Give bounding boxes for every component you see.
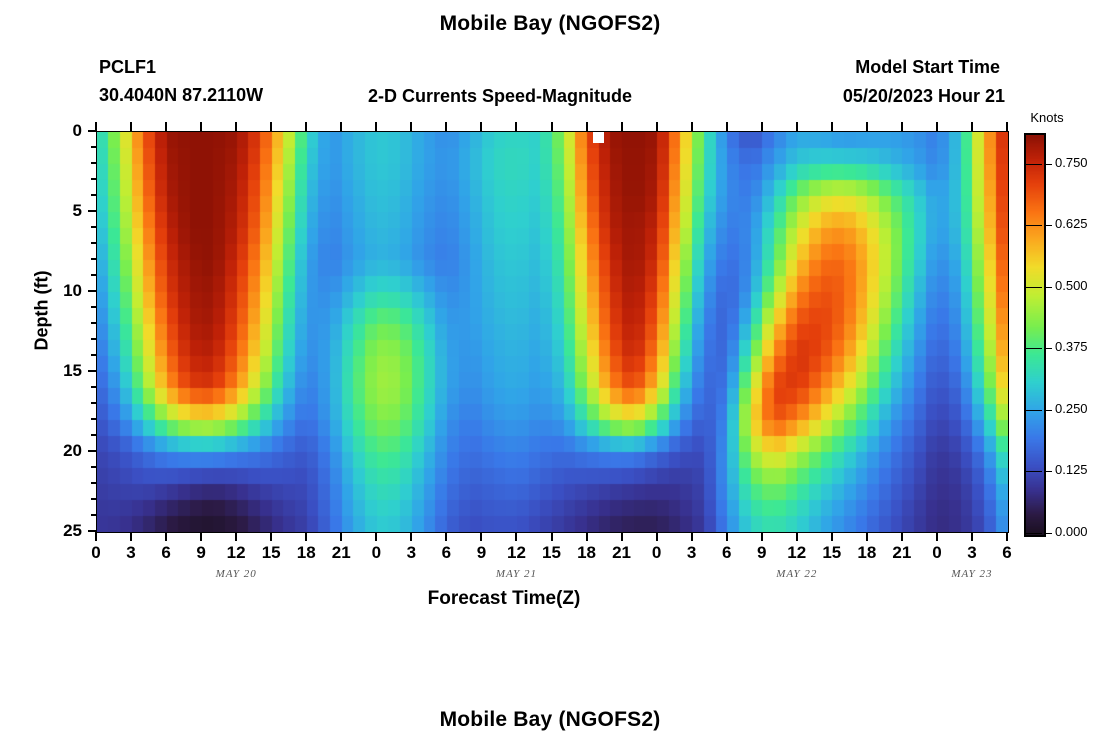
colorbar-tick-label: 0.250 bbox=[1055, 401, 1100, 416]
heatmap-canvas bbox=[97, 132, 1008, 532]
x-axis-top-tick bbox=[340, 122, 342, 131]
x-axis-tick-label: 9 bbox=[742, 543, 782, 563]
x-axis-top-tick bbox=[656, 122, 658, 131]
y-axis-tick-label: 20 bbox=[40, 441, 82, 461]
colorbar-tick bbox=[1044, 225, 1052, 226]
y-axis-minor-tick bbox=[91, 242, 97, 244]
y-axis-minor-tick bbox=[91, 258, 97, 260]
x-axis-top-tick bbox=[515, 122, 517, 131]
x-axis-tick-label: 9 bbox=[181, 543, 221, 563]
x-axis-tick-label: 18 bbox=[567, 543, 607, 563]
y-axis-minor-tick bbox=[91, 498, 97, 500]
colorbar-tick bbox=[1044, 410, 1052, 411]
x-axis-top-tick bbox=[130, 122, 132, 131]
x-axis-top-tick bbox=[971, 122, 973, 131]
x-axis-tick-label: 6 bbox=[987, 543, 1027, 563]
model-start-time-marker bbox=[593, 132, 604, 143]
y-axis-tick-label: 0 bbox=[40, 121, 82, 141]
x-axis-top-tick bbox=[375, 122, 377, 131]
x-axis-tick bbox=[305, 532, 307, 541]
x-axis-date-label: MAY 23 bbox=[912, 568, 1032, 580]
colorbar-tick-label: 0.000 bbox=[1055, 524, 1100, 539]
x-axis-tick-label: 6 bbox=[707, 543, 747, 563]
x-axis-tick bbox=[270, 532, 272, 541]
y-axis-minor-tick bbox=[91, 178, 97, 180]
colorbar-tick bbox=[1044, 164, 1052, 165]
x-axis-tick-label: 21 bbox=[882, 543, 922, 563]
colorbar-tick bbox=[1044, 287, 1052, 288]
x-axis-tick-label: 12 bbox=[216, 543, 256, 563]
y-axis-minor-tick bbox=[91, 466, 97, 468]
x-axis-top-tick bbox=[726, 122, 728, 131]
colorbar-tick-label: 0.125 bbox=[1055, 462, 1100, 477]
colorbar-title: Knots bbox=[1012, 110, 1082, 125]
x-axis-top-tick bbox=[445, 122, 447, 131]
x-axis-top-tick bbox=[480, 122, 482, 131]
x-axis-top-tick bbox=[305, 122, 307, 131]
y-axis-minor-tick bbox=[91, 514, 97, 516]
y-axis-minor-tick bbox=[91, 386, 97, 388]
colorbar-separator bbox=[1024, 348, 1042, 349]
x-axis-top-tick bbox=[621, 122, 623, 131]
y-axis-minor-tick bbox=[91, 274, 97, 276]
x-axis-tick bbox=[515, 532, 517, 541]
x-axis-top-tick bbox=[551, 122, 553, 131]
x-axis-top-tick bbox=[410, 122, 412, 131]
colorbar-tick bbox=[1044, 533, 1052, 534]
colorbar-tick bbox=[1044, 471, 1052, 472]
colorbar-separator bbox=[1024, 164, 1042, 165]
colorbar-separator bbox=[1024, 471, 1042, 472]
colorbar-tick bbox=[1044, 348, 1052, 349]
model-start-time-label: Model Start Time bbox=[0, 57, 1000, 78]
x-axis-tick-label: 15 bbox=[251, 543, 291, 563]
y-axis-minor-tick bbox=[91, 354, 97, 356]
x-axis-tick-label: 15 bbox=[812, 543, 852, 563]
x-axis-tick bbox=[375, 532, 377, 541]
y-axis-major-tick bbox=[88, 210, 97, 212]
x-axis-top-tick bbox=[270, 122, 272, 131]
colorbar-separator bbox=[1024, 225, 1042, 226]
x-axis-tick-label: 18 bbox=[286, 543, 326, 563]
x-axis-tick bbox=[551, 532, 553, 541]
x-axis-tick-label: 9 bbox=[461, 543, 501, 563]
x-axis-tick bbox=[445, 532, 447, 541]
x-axis-top-tick bbox=[796, 122, 798, 131]
y-axis-title: Depth (ft) bbox=[32, 251, 53, 371]
x-axis-tick-label: 3 bbox=[672, 543, 712, 563]
x-axis-tick-label: 3 bbox=[391, 543, 431, 563]
x-axis-top-tick bbox=[586, 122, 588, 131]
colorbar bbox=[1024, 133, 1046, 537]
x-axis-tick bbox=[410, 532, 412, 541]
y-axis-major-tick bbox=[88, 370, 97, 372]
x-axis-tick-label: 3 bbox=[111, 543, 151, 563]
x-axis-tick-label: 12 bbox=[496, 543, 536, 563]
x-axis-tick-label: 18 bbox=[847, 543, 887, 563]
x-axis-tick bbox=[200, 532, 202, 541]
x-axis-tick bbox=[130, 532, 132, 541]
x-axis-top-tick bbox=[691, 122, 693, 131]
y-axis-minor-tick bbox=[91, 418, 97, 420]
y-axis-tick-label: 5 bbox=[40, 201, 82, 221]
x-axis-tick bbox=[95, 532, 97, 541]
x-axis-date-label: MAY 20 bbox=[176, 568, 296, 580]
x-axis-top-tick bbox=[95, 122, 97, 131]
y-axis-major-tick bbox=[88, 450, 97, 452]
colorbar-tick-label: 0.375 bbox=[1055, 339, 1100, 354]
x-axis-tick bbox=[691, 532, 693, 541]
x-axis-top-tick bbox=[1006, 122, 1008, 131]
colorbar-separator bbox=[1024, 533, 1042, 534]
x-axis-tick-label: 0 bbox=[917, 543, 957, 563]
x-axis-tick bbox=[656, 532, 658, 541]
x-axis-tick bbox=[971, 532, 973, 541]
x-axis-tick bbox=[165, 532, 167, 541]
x-axis-top-tick bbox=[235, 122, 237, 131]
y-axis-minor-tick bbox=[91, 402, 97, 404]
x-axis-tick-label: 0 bbox=[356, 543, 396, 563]
y-axis-minor-tick bbox=[91, 434, 97, 436]
x-axis-top-tick bbox=[200, 122, 202, 131]
x-axis-tick-label: 21 bbox=[321, 543, 361, 563]
x-axis-tick bbox=[586, 532, 588, 541]
x-axis-tick-label: 3 bbox=[952, 543, 992, 563]
x-axis-tick-label: 6 bbox=[426, 543, 466, 563]
x-axis-tick bbox=[936, 532, 938, 541]
y-axis-minor-tick bbox=[91, 322, 97, 324]
x-axis-tick bbox=[831, 532, 833, 541]
x-axis-date-label: MAY 22 bbox=[737, 568, 857, 580]
x-axis-title: Forecast Time(Z) bbox=[0, 588, 1008, 610]
x-axis-tick-label: 6 bbox=[146, 543, 186, 563]
x-axis-tick bbox=[621, 532, 623, 541]
x-axis-top-tick bbox=[831, 122, 833, 131]
y-axis-minor-tick bbox=[91, 146, 97, 148]
y-axis-tick-label: 25 bbox=[40, 521, 82, 541]
y-axis-major-tick bbox=[88, 290, 97, 292]
colorbar-separator bbox=[1024, 287, 1042, 288]
x-axis-date-label: MAY 21 bbox=[456, 568, 576, 580]
x-axis-tick-label: 0 bbox=[637, 543, 677, 563]
colorbar-separator bbox=[1024, 410, 1042, 411]
x-axis-tick bbox=[480, 532, 482, 541]
y-axis-minor-tick bbox=[91, 306, 97, 308]
heatmap-plot-area bbox=[96, 131, 1009, 533]
y-axis-minor-tick bbox=[91, 194, 97, 196]
colorbar-tick-label: 0.625 bbox=[1055, 216, 1100, 231]
colorbar-tick-label: 0.500 bbox=[1055, 278, 1100, 293]
page-title-top: Mobile Bay (NGOFS2) bbox=[0, 12, 1100, 36]
x-axis-top-tick bbox=[936, 122, 938, 131]
x-axis-top-tick bbox=[901, 122, 903, 131]
x-axis-tick bbox=[866, 532, 868, 541]
x-axis-tick bbox=[901, 532, 903, 541]
x-axis-tick bbox=[796, 532, 798, 541]
colorbar-canvas bbox=[1026, 135, 1044, 535]
x-axis-tick bbox=[761, 532, 763, 541]
x-axis-tick-label: 12 bbox=[777, 543, 817, 563]
x-axis-tick bbox=[726, 532, 728, 541]
x-axis-tick bbox=[1006, 532, 1008, 541]
x-axis-tick-label: 0 bbox=[76, 543, 116, 563]
page-title-bottom: Mobile Bay (NGOFS2) bbox=[0, 708, 1100, 732]
y-axis-minor-tick bbox=[91, 338, 97, 340]
x-axis-tick-label: 15 bbox=[532, 543, 572, 563]
y-axis-minor-tick bbox=[91, 226, 97, 228]
x-axis-top-tick bbox=[165, 122, 167, 131]
y-axis-minor-tick bbox=[91, 482, 97, 484]
y-axis-minor-tick bbox=[91, 162, 97, 164]
x-axis-top-tick bbox=[866, 122, 868, 131]
model-start-time-value: 05/20/2023 Hour 21 bbox=[0, 86, 1005, 107]
x-axis-tick bbox=[235, 532, 237, 541]
x-axis-top-tick bbox=[761, 122, 763, 131]
x-axis-tick bbox=[340, 532, 342, 541]
colorbar-tick-label: 0.750 bbox=[1055, 155, 1100, 170]
x-axis-tick-label: 21 bbox=[602, 543, 642, 563]
